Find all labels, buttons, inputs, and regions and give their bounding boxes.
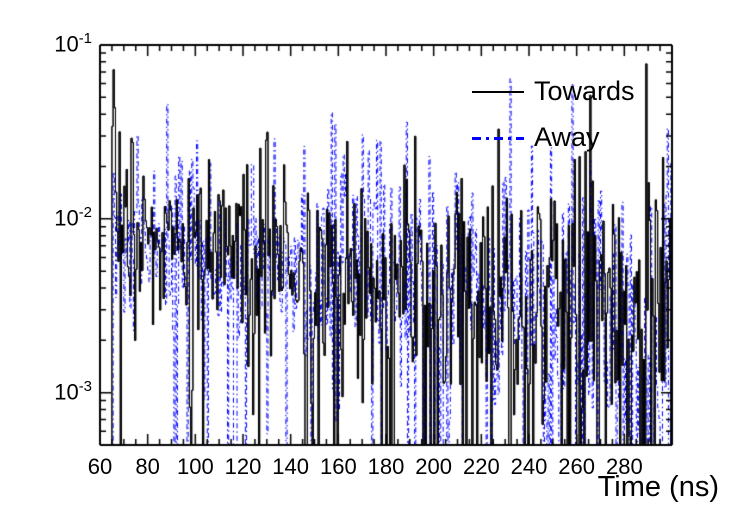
y-tick-label: 10-2 [28,204,92,231]
x-tick-label: 280 [594,454,654,480]
legend-swatch-towards [472,91,524,93]
chart-figure: Towards Away Time (ns) 60801001201401601… [0,0,747,509]
legend-label-away: Away [534,122,600,152]
legend-swatch-away [472,137,524,140]
y-tick-label: 10-1 [28,30,92,57]
chart-legend: Towards Away [472,76,682,176]
legend-item-away: Away [472,122,682,168]
legend-label-towards: Towards [534,76,635,106]
y-tick-label: 10-3 [28,378,92,405]
legend-item-towards: Towards [472,76,682,122]
